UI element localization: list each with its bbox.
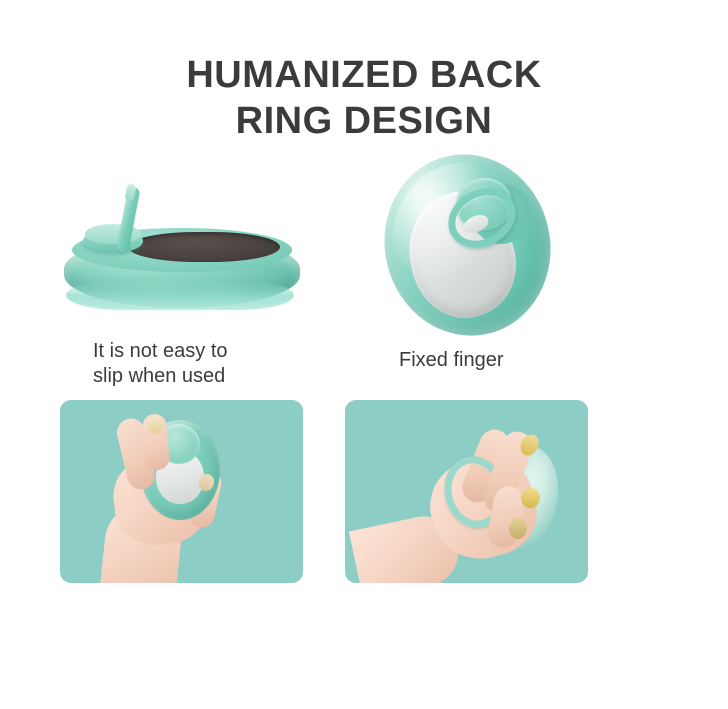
photo-panel-row (0, 0, 728, 709)
photo-finger-through-ring (345, 400, 588, 583)
photo-hand-holding-device (60, 400, 303, 583)
